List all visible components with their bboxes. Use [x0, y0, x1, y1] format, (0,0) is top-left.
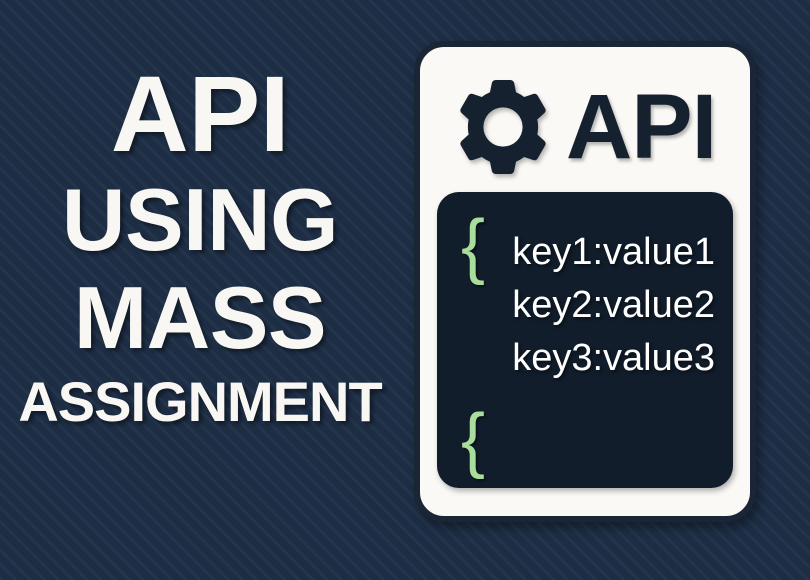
card-api-title: API [566, 81, 716, 173]
brace-open-bottom-icon: { [461, 404, 485, 476]
code-line-2: key2:value2 [512, 279, 715, 332]
code-line-list: key1:value1 key2:value2 key3:value3 [437, 226, 715, 385]
headline-line-mass: MASS [0, 274, 400, 362]
headline-line-api: API [0, 60, 400, 168]
headline-block: API USING MASS ASSIGNMENT [0, 60, 400, 430]
api-card: API { { key1:value1 key2:value2 key3:val… [414, 41, 756, 522]
card-header: API [454, 74, 716, 180]
poster-canvas: API USING MASS ASSIGNMENT API { { key1:v… [0, 0, 810, 580]
headline-line-assignment: ASSIGNMENT [0, 374, 400, 430]
code-line-1: key1:value1 [512, 226, 715, 279]
code-line-3: key3:value3 [512, 332, 715, 385]
headline-line-using: USING [0, 176, 400, 264]
code-block: { { key1:value1 key2:value2 key3:value3 [437, 192, 733, 488]
gear-icon [454, 78, 552, 176]
